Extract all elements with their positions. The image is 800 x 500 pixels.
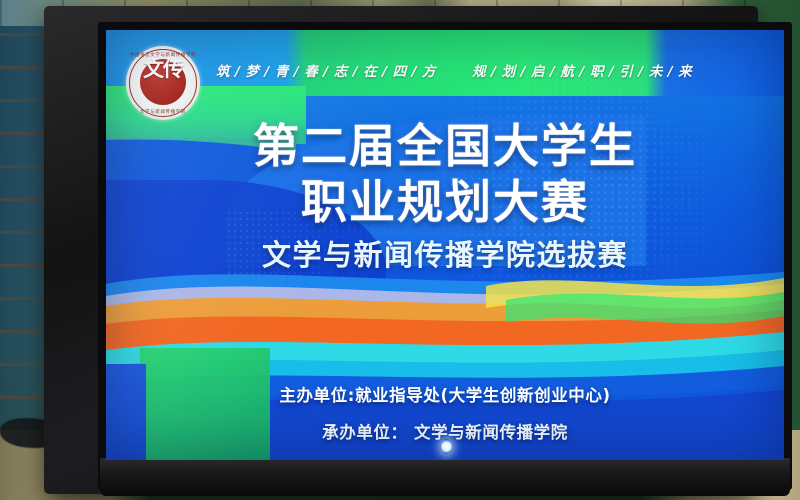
interactive-display-bezel[interactable]: 中国语言文学与新闻传播学院 文传 文学与新闻传播学院 筑 / 梦 / 青 / 春… <box>44 6 758 494</box>
poster-subtitle: 文学与新闻传播学院选拔赛 <box>106 237 784 273</box>
photo-scene: 中国语言文学与新闻传播学院 文传 文学与新闻传播学院 筑 / 梦 / 青 / 春… <box>0 0 800 500</box>
display-base <box>100 458 790 496</box>
poster-content: 中国语言文学与新闻传播学院 文传 文学与新闻传播学院 筑 / 梦 / 青 / 春… <box>106 30 784 460</box>
slogan-right: 规 / 划 / 启 / 航 / 职 / 引 / 未 / 来 <box>472 64 692 80</box>
college-seal-icon: 中国语言文学与新闻传播学院 文传 文学与新闻传播学院 <box>126 46 200 120</box>
power-led-icon <box>441 439 452 454</box>
slogan-row: 筑 / 梦 / 青 / 春 / 志 / 在 / 四 / 方 规 / 划 / 启 … <box>216 60 776 80</box>
title-line-2: 职业规划大赛 <box>106 174 784 230</box>
poster-title-block: 第二届全国大学生 职业规划大赛 文学与新闻传播学院选拔赛 <box>106 118 784 273</box>
seal-arc-bottom-text: 文学与新闻传播学院 <box>126 109 200 115</box>
slogan-left: 筑 / 梦 / 青 / 春 / 志 / 在 / 四 / 方 <box>216 64 436 80</box>
display-screen[interactable]: 中国语言文学与新闻传播学院 文传 文学与新闻传播学院 筑 / 梦 / 青 / 春… <box>106 30 784 460</box>
organizer-line: 主办单位:就业指导处(大学生创新创业中心) <box>106 382 784 406</box>
seal-glyph: 文传 <box>126 57 200 81</box>
title-line-1: 第二届全国大学生 <box>106 118 784 174</box>
